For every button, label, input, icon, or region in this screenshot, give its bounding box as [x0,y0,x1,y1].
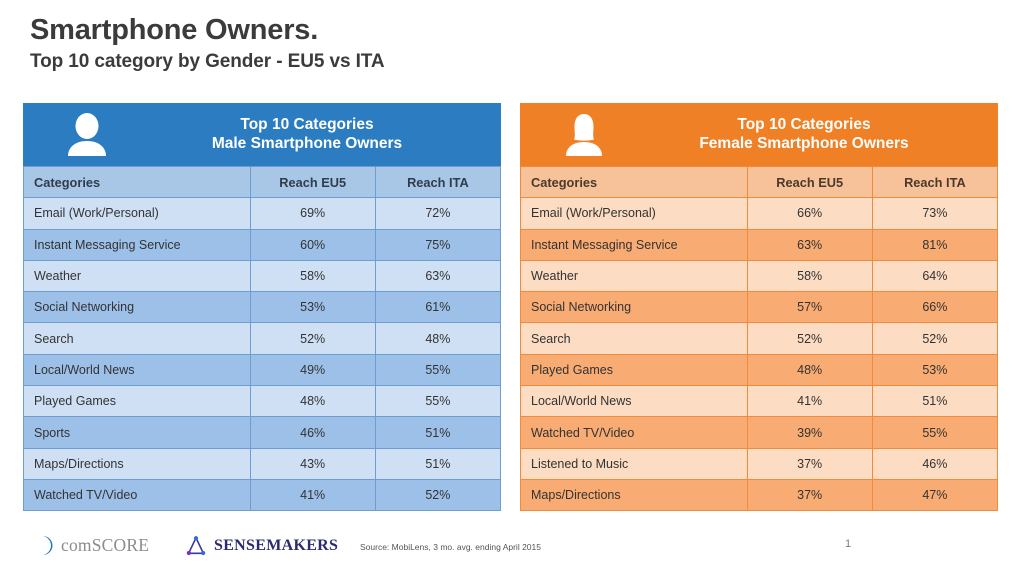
cell-category: Watched TV/Video [521,417,748,448]
sensemakers-triangle-icon [185,535,207,557]
cell-category: Maps/Directions [521,479,748,510]
cell-reach-ita: 51% [375,448,500,479]
cell-reach-ita: 72% [375,198,500,229]
comscore-ring-icon [30,534,53,557]
cell-category: Local/World News [521,386,748,417]
title-block: Smartphone Owners. Top 10 category by Ge… [30,14,384,73]
cell-reach-ita: 61% [375,292,500,323]
female-table-panel: Top 10 Categories Female Smartphone Owne… [520,103,998,511]
cell-category: Played Games [24,386,251,417]
cell-reach-eu5: 52% [250,323,375,354]
cell-reach-eu5: 69% [250,198,375,229]
female-col-reach-eu5: Reach EU5 [747,167,872,198]
female-col-reach-ita: Reach ITA [872,167,997,198]
male-col-reach-ita: Reach ITA [375,167,500,198]
table-row: Listened to Music37%46% [521,448,998,479]
female-header-line1: Top 10 Categories [737,116,870,133]
cell-category: Search [521,323,748,354]
table-row: Weather58%64% [521,260,998,291]
page-title: Smartphone Owners. [30,14,384,46]
female-person-icon [538,113,630,157]
cell-category: Instant Messaging Service [521,229,748,260]
cell-reach-ita: 52% [872,323,997,354]
cell-category: Listened to Music [521,448,748,479]
cell-reach-eu5: 39% [747,417,872,448]
cell-reach-eu5: 37% [747,479,872,510]
female-table-header-row: Categories Reach EU5 Reach ITA [521,167,998,198]
cell-reach-eu5: 63% [747,229,872,260]
male-table: Categories Reach EU5 Reach ITA Email (Wo… [23,166,501,511]
table-row: Sports46%51% [24,417,501,448]
cell-reach-ita: 51% [872,386,997,417]
cell-reach-eu5: 58% [250,260,375,291]
table-row: Email (Work/Personal)69%72% [24,198,501,229]
table-row: Instant Messaging Service63%81% [521,229,998,260]
male-panel-title: Top 10 Categories Male Smartphone Owners [133,116,487,154]
cell-reach-ita: 81% [872,229,997,260]
footer: comSCORE SENSEMAKERS Source: MobiLens, 3… [0,530,1020,574]
male-panel-header: Top 10 Categories Male Smartphone Owners [23,103,501,166]
table-row: Watched TV/Video39%55% [521,417,998,448]
cell-reach-ita: 52% [375,479,500,510]
cell-reach-ita: 53% [872,354,997,385]
cell-reach-ita: 46% [872,448,997,479]
cell-category: Local/World News [24,354,251,385]
table-row: Played Games48%55% [24,386,501,417]
page-subtitle: Top 10 category by Gender - EU5 vs ITA [30,51,384,73]
table-row: Search52%48% [24,323,501,354]
cell-reach-eu5: 37% [747,448,872,479]
cell-reach-eu5: 57% [747,292,872,323]
cell-reach-ita: 66% [872,292,997,323]
cell-reach-ita: 48% [375,323,500,354]
cell-category: Weather [24,260,251,291]
table-row: Social Networking53%61% [24,292,501,323]
cell-reach-ita: 55% [375,354,500,385]
table-row: Search52%52% [521,323,998,354]
cell-reach-ita: 55% [872,417,997,448]
male-col-category: Categories [24,167,251,198]
table-row: Instant Messaging Service60%75% [24,229,501,260]
female-table-body: Email (Work/Personal)66%73% Instant Mess… [521,198,998,511]
cell-reach-ita: 51% [375,417,500,448]
page-number: 1 [845,538,851,550]
male-person-icon [41,113,133,157]
table-row: Local/World News49%55% [24,354,501,385]
cell-reach-eu5: 52% [747,323,872,354]
cell-category: Search [24,323,251,354]
male-table-body: Email (Work/Personal)69%72% Instant Mess… [24,198,501,511]
female-panel-header: Top 10 Categories Female Smartphone Owne… [520,103,998,166]
male-header-line2: Male Smartphone Owners [133,135,481,154]
male-header-line1: Top 10 Categories [240,116,373,133]
cell-reach-eu5: 66% [747,198,872,229]
table-row: Weather58%63% [24,260,501,291]
cell-reach-ita: 73% [872,198,997,229]
cell-category: Social Networking [24,292,251,323]
female-panel-title: Top 10 Categories Female Smartphone Owne… [630,116,984,154]
cell-reach-eu5: 53% [250,292,375,323]
sensemakers-logo: SENSEMAKERS [185,535,338,557]
cell-category: Played Games [521,354,748,385]
cell-category: Social Networking [521,292,748,323]
table-row: Social Networking57%66% [521,292,998,323]
male-table-panel: Top 10 Categories Male Smartphone Owners… [23,103,501,511]
female-table: Categories Reach EU5 Reach ITA Email (Wo… [520,166,998,511]
table-row: Played Games48%53% [521,354,998,385]
cell-reach-eu5: 46% [250,417,375,448]
female-header-line2: Female Smartphone Owners [630,135,978,154]
cell-reach-eu5: 49% [250,354,375,385]
cell-category: Maps/Directions [24,448,251,479]
cell-reach-ita: 55% [375,386,500,417]
cell-reach-eu5: 48% [250,386,375,417]
table-row: Maps/Directions37%47% [521,479,998,510]
cell-reach-ita: 63% [375,260,500,291]
table-row: Watched TV/Video41%52% [24,479,501,510]
cell-reach-ita: 75% [375,229,500,260]
female-col-category: Categories [521,167,748,198]
table-row: Email (Work/Personal)66%73% [521,198,998,229]
cell-reach-eu5: 48% [747,354,872,385]
male-col-reach-eu5: Reach EU5 [250,167,375,198]
cell-reach-eu5: 41% [747,386,872,417]
cell-reach-eu5: 41% [250,479,375,510]
comscore-logo: comSCORE [30,534,149,557]
cell-reach-ita: 64% [872,260,997,291]
cell-reach-eu5: 58% [747,260,872,291]
table-row: Maps/Directions43%51% [24,448,501,479]
comscore-wordmark: comSCORE [61,535,149,556]
cell-category: Sports [24,417,251,448]
source-note: Source: MobiLens, 3 mo. avg. ending Apri… [360,542,541,552]
cell-reach-eu5: 60% [250,229,375,260]
cell-category: Instant Messaging Service [24,229,251,260]
cell-reach-eu5: 43% [250,448,375,479]
cell-category: Email (Work/Personal) [24,198,251,229]
cell-reach-ita: 47% [872,479,997,510]
slide: Smartphone Owners. Top 10 category by Ge… [0,0,1020,574]
cell-category: Watched TV/Video [24,479,251,510]
sensemakers-wordmark: SENSEMAKERS [214,537,338,555]
table-row: Local/World News41%51% [521,386,998,417]
cell-category: Email (Work/Personal) [521,198,748,229]
cell-category: Weather [521,260,748,291]
male-table-header-row: Categories Reach EU5 Reach ITA [24,167,501,198]
